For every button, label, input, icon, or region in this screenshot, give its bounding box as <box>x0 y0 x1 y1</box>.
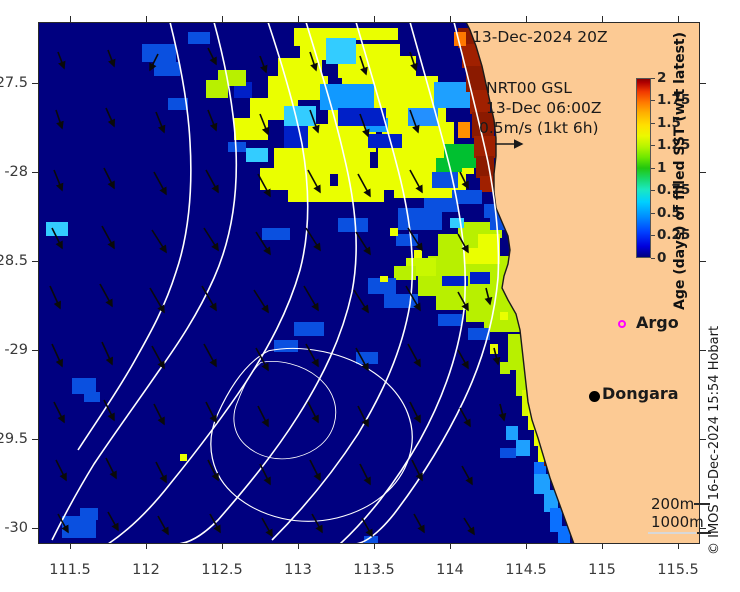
argo-legend-label: Argo <box>636 313 679 332</box>
x-tick-label: 112.5 <box>201 562 243 578</box>
x-tick-label: 113 <box>284 562 312 578</box>
y-tick-label: -29 <box>4 342 28 358</box>
right-arrow-icon <box>494 139 528 149</box>
nrt-product-label: NRT00 GSL <box>486 79 572 97</box>
depth-1000m-line <box>648 532 696 534</box>
colorbar-tick-label: 0 <box>657 250 666 266</box>
x-tick-label: 113.5 <box>353 562 395 578</box>
x-tick-label: 111.5 <box>49 562 91 578</box>
dongara-place-label: Dongara <box>602 384 679 403</box>
x-tick-label: 114.5 <box>505 562 547 578</box>
imos-sst-age-map-figure: 111.5 112 112.5 113 113.5 114 114.5 115 … <box>0 0 740 592</box>
y-tick-label: -28 <box>4 164 28 180</box>
colorbar-title: Age (days) of filled SST (wrt latest) <box>672 32 688 310</box>
timestamp-label: 13-Dec-2024 20Z <box>472 28 608 46</box>
x-tick-label: 115.5 <box>657 562 699 578</box>
colorbar-tick-label: 1 <box>657 160 666 176</box>
vector-scale-label: 0.5m/s (1kt 6h) <box>479 119 599 137</box>
depth-1000m-label: 1000m <box>651 513 704 531</box>
y-tick-label: -30 <box>4 520 28 536</box>
dongara-town-marker-icon <box>589 391 600 402</box>
y-tick-label: -28.5 <box>0 253 28 269</box>
x-tick-label: 115 <box>588 562 616 578</box>
y-tick-label: -29.5 <box>0 431 28 447</box>
colorbar-gradient <box>636 78 651 258</box>
x-tick-label: 114 <box>436 562 464 578</box>
depth-200m-label: 200m <box>651 495 694 513</box>
colorbar[interactable] <box>636 78 651 258</box>
y-tick-label: -27.5 <box>0 75 28 91</box>
x-tick-label: 112 <box>132 562 160 578</box>
copyright-label: © IMOS 16-Dec-2024 15:54 Hobart <box>707 326 722 555</box>
colorbar-tick-label: 2 <box>657 70 666 86</box>
argo-float-marker-icon <box>618 320 626 328</box>
nrt-datetime-label: 13-Dec 06:00Z <box>486 99 602 117</box>
